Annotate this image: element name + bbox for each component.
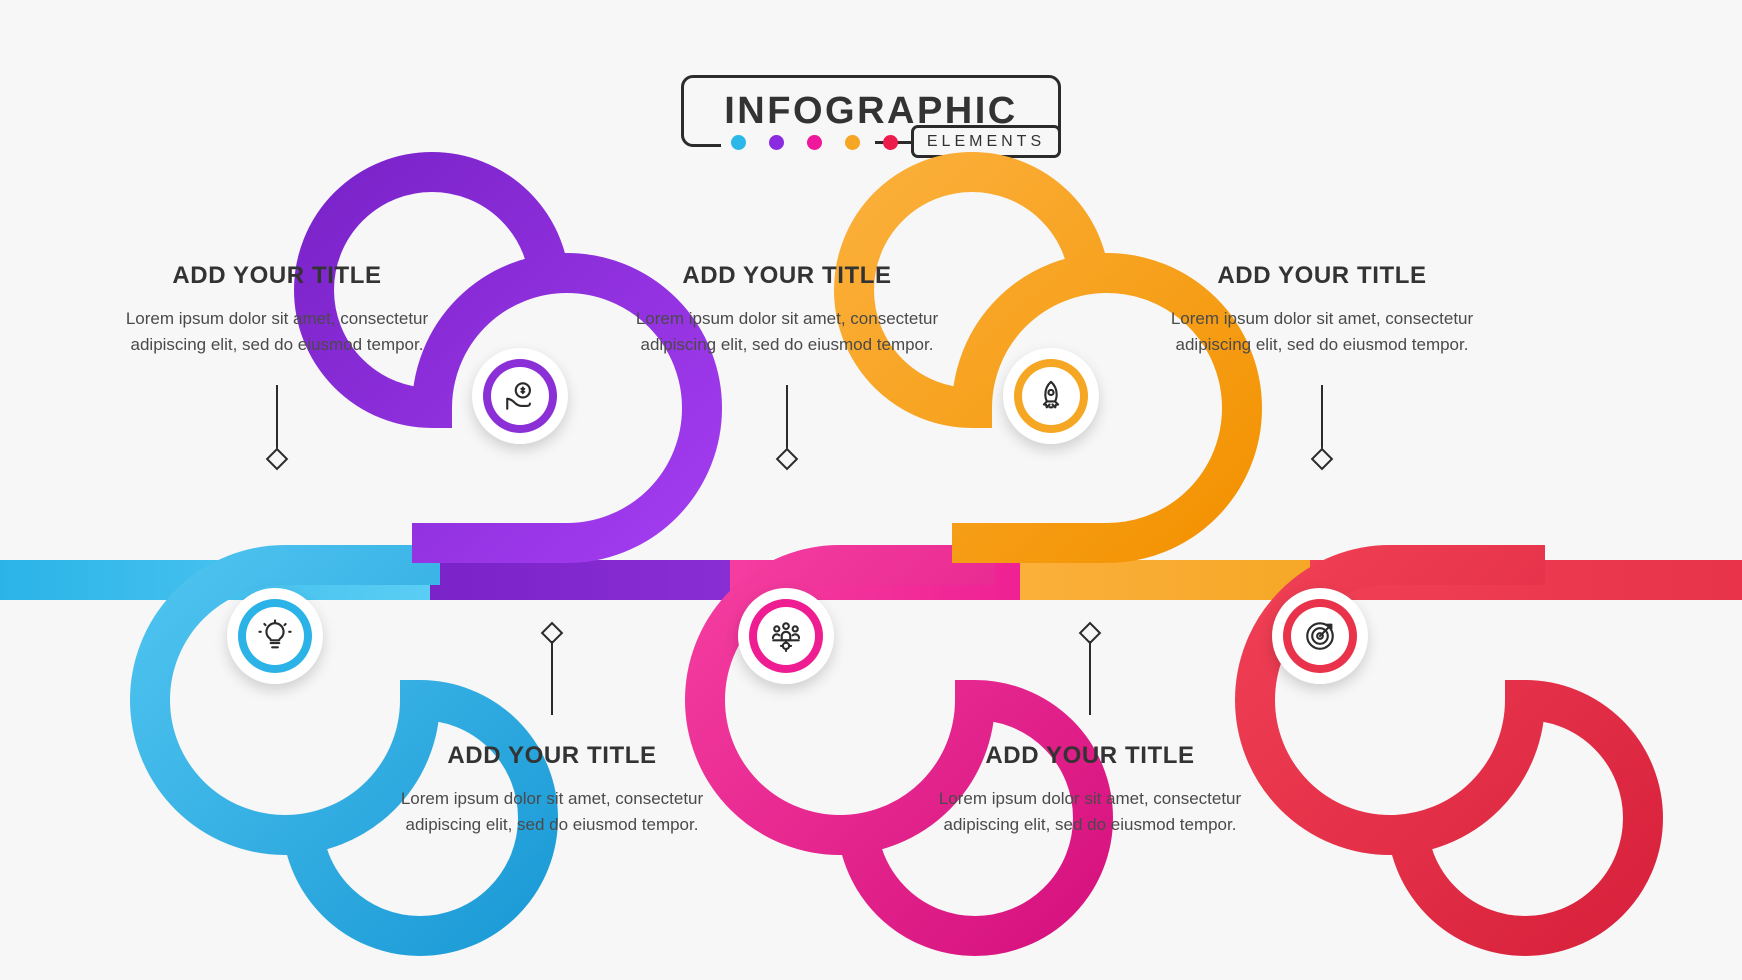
- icon-core-purple: [491, 367, 549, 425]
- text-block-magenta: ADD YOUR TITLE Lorem ipsum dolor sit ame…: [627, 262, 947, 359]
- icon-ring-magenta: [749, 599, 823, 673]
- connector-purple: [541, 625, 563, 725]
- infographic-canvas: INFOGRAPHIC ELEMENTS: [0, 0, 1742, 980]
- icon-badge-orange[interactable]: [1003, 348, 1099, 444]
- text-block-blue: ADD YOUR TITLE Lorem ipsum dolor sit ame…: [117, 262, 437, 359]
- icon-badge-purple[interactable]: [472, 348, 568, 444]
- icon-ring-blue: [238, 599, 312, 673]
- step-title-red: ADD YOUR TITLE: [1162, 262, 1482, 290]
- team-gear-icon: [769, 619, 803, 653]
- text-block-purple: ADD YOUR TITLE Lorem ipsum dolor sit ame…: [392, 742, 712, 839]
- rocket-icon: [1034, 379, 1068, 413]
- text-block-orange: ADD YOUR TITLE Lorem ipsum dolor sit ame…: [930, 742, 1250, 839]
- icon-ring-purple: [483, 359, 557, 433]
- step-body-purple: Lorem ipsum dolor sit amet, consectetur …: [392, 786, 712, 839]
- target-arrow-icon: [1303, 619, 1337, 653]
- step-title-blue: ADD YOUR TITLE: [117, 262, 437, 290]
- header-dot-5: [883, 135, 898, 150]
- step-body-red: Lorem ipsum dolor sit amet, consectetur …: [1162, 306, 1482, 359]
- step-title-magenta: ADD YOUR TITLE: [627, 262, 947, 290]
- icon-core-orange: [1022, 367, 1080, 425]
- header-dot-2: [769, 135, 784, 150]
- step-body-orange: Lorem ipsum dolor sit amet, consectetur …: [930, 786, 1250, 839]
- icon-badge-magenta[interactable]: [738, 588, 834, 684]
- header-dot-row: [731, 135, 898, 150]
- step-title-orange: ADD YOUR TITLE: [930, 742, 1250, 770]
- header-dot-3: [807, 135, 822, 150]
- header-dot-1: [731, 135, 746, 150]
- icon-badge-red[interactable]: [1272, 588, 1368, 684]
- icon-core-magenta: [757, 607, 815, 665]
- lightbulb-icon: [258, 619, 292, 653]
- text-block-red: ADD YOUR TITLE Lorem ipsum dolor sit ame…: [1162, 262, 1482, 359]
- header-subtitle: ELEMENTS: [927, 133, 1045, 151]
- icon-core-blue: [246, 607, 304, 665]
- connector-red: [1311, 385, 1333, 475]
- spiral-red[interactable]: [1215, 520, 1545, 840]
- step-body-blue: Lorem ipsum dolor sit amet, consectetur …: [117, 306, 437, 359]
- icon-ring-red: [1283, 599, 1357, 673]
- step-title-purple: ADD YOUR TITLE: [392, 742, 712, 770]
- connector-orange: [1079, 625, 1101, 725]
- hand-money-icon: [503, 379, 537, 413]
- icon-core-red: [1291, 607, 1349, 665]
- connector-magenta: [776, 385, 798, 475]
- header-dot-4: [845, 135, 860, 150]
- icon-badge-blue[interactable]: [227, 588, 323, 684]
- connector-blue: [266, 385, 288, 475]
- step-body-magenta: Lorem ipsum dolor sit amet, consectetur …: [627, 306, 947, 359]
- icon-ring-orange: [1014, 359, 1088, 433]
